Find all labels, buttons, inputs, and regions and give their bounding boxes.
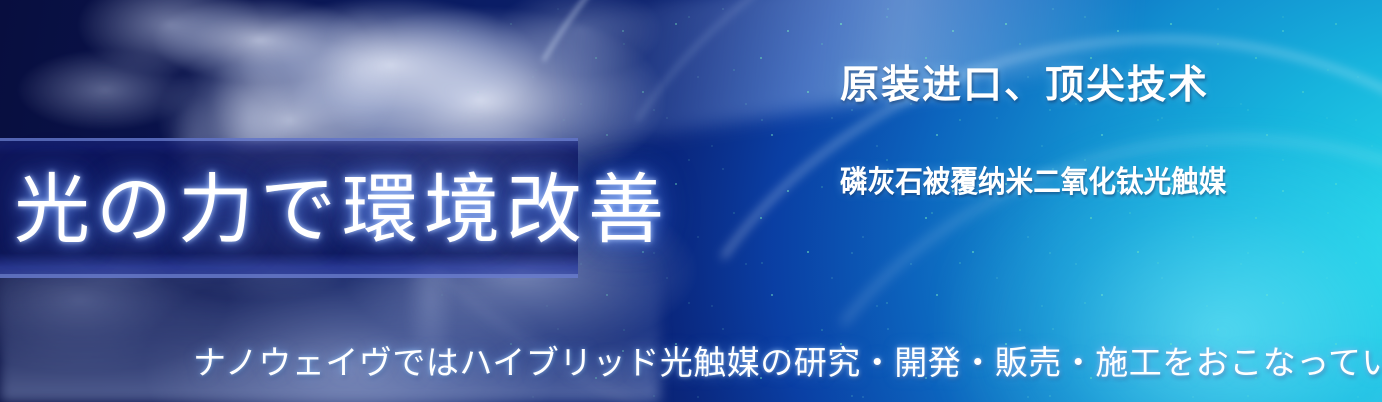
headline-band: 光の力で環境改善 bbox=[0, 138, 578, 278]
bottom-tagline: ナノウェイヴではハイブリッド光触媒の研究・開発・販売・施工をおこなっています bbox=[193, 345, 1382, 381]
main-headline: 光の力で環境改善 bbox=[0, 172, 670, 248]
right-headline-primary: 原装进口、顶尖技术 bbox=[840, 66, 1360, 107]
right-copy-block: 原装进口、顶尖技术 磷灰石被覆纳米二氧化钛光触媒 bbox=[840, 66, 1360, 198]
right-headline-secondary: 磷灰石被覆纳米二氧化钛光触媒 bbox=[840, 167, 1318, 199]
hero-banner: 光の力で環境改善 原装进口、顶尖技术 磷灰石被覆纳米二氧化钛光触媒 ナノウェイヴ… bbox=[0, 0, 1382, 402]
